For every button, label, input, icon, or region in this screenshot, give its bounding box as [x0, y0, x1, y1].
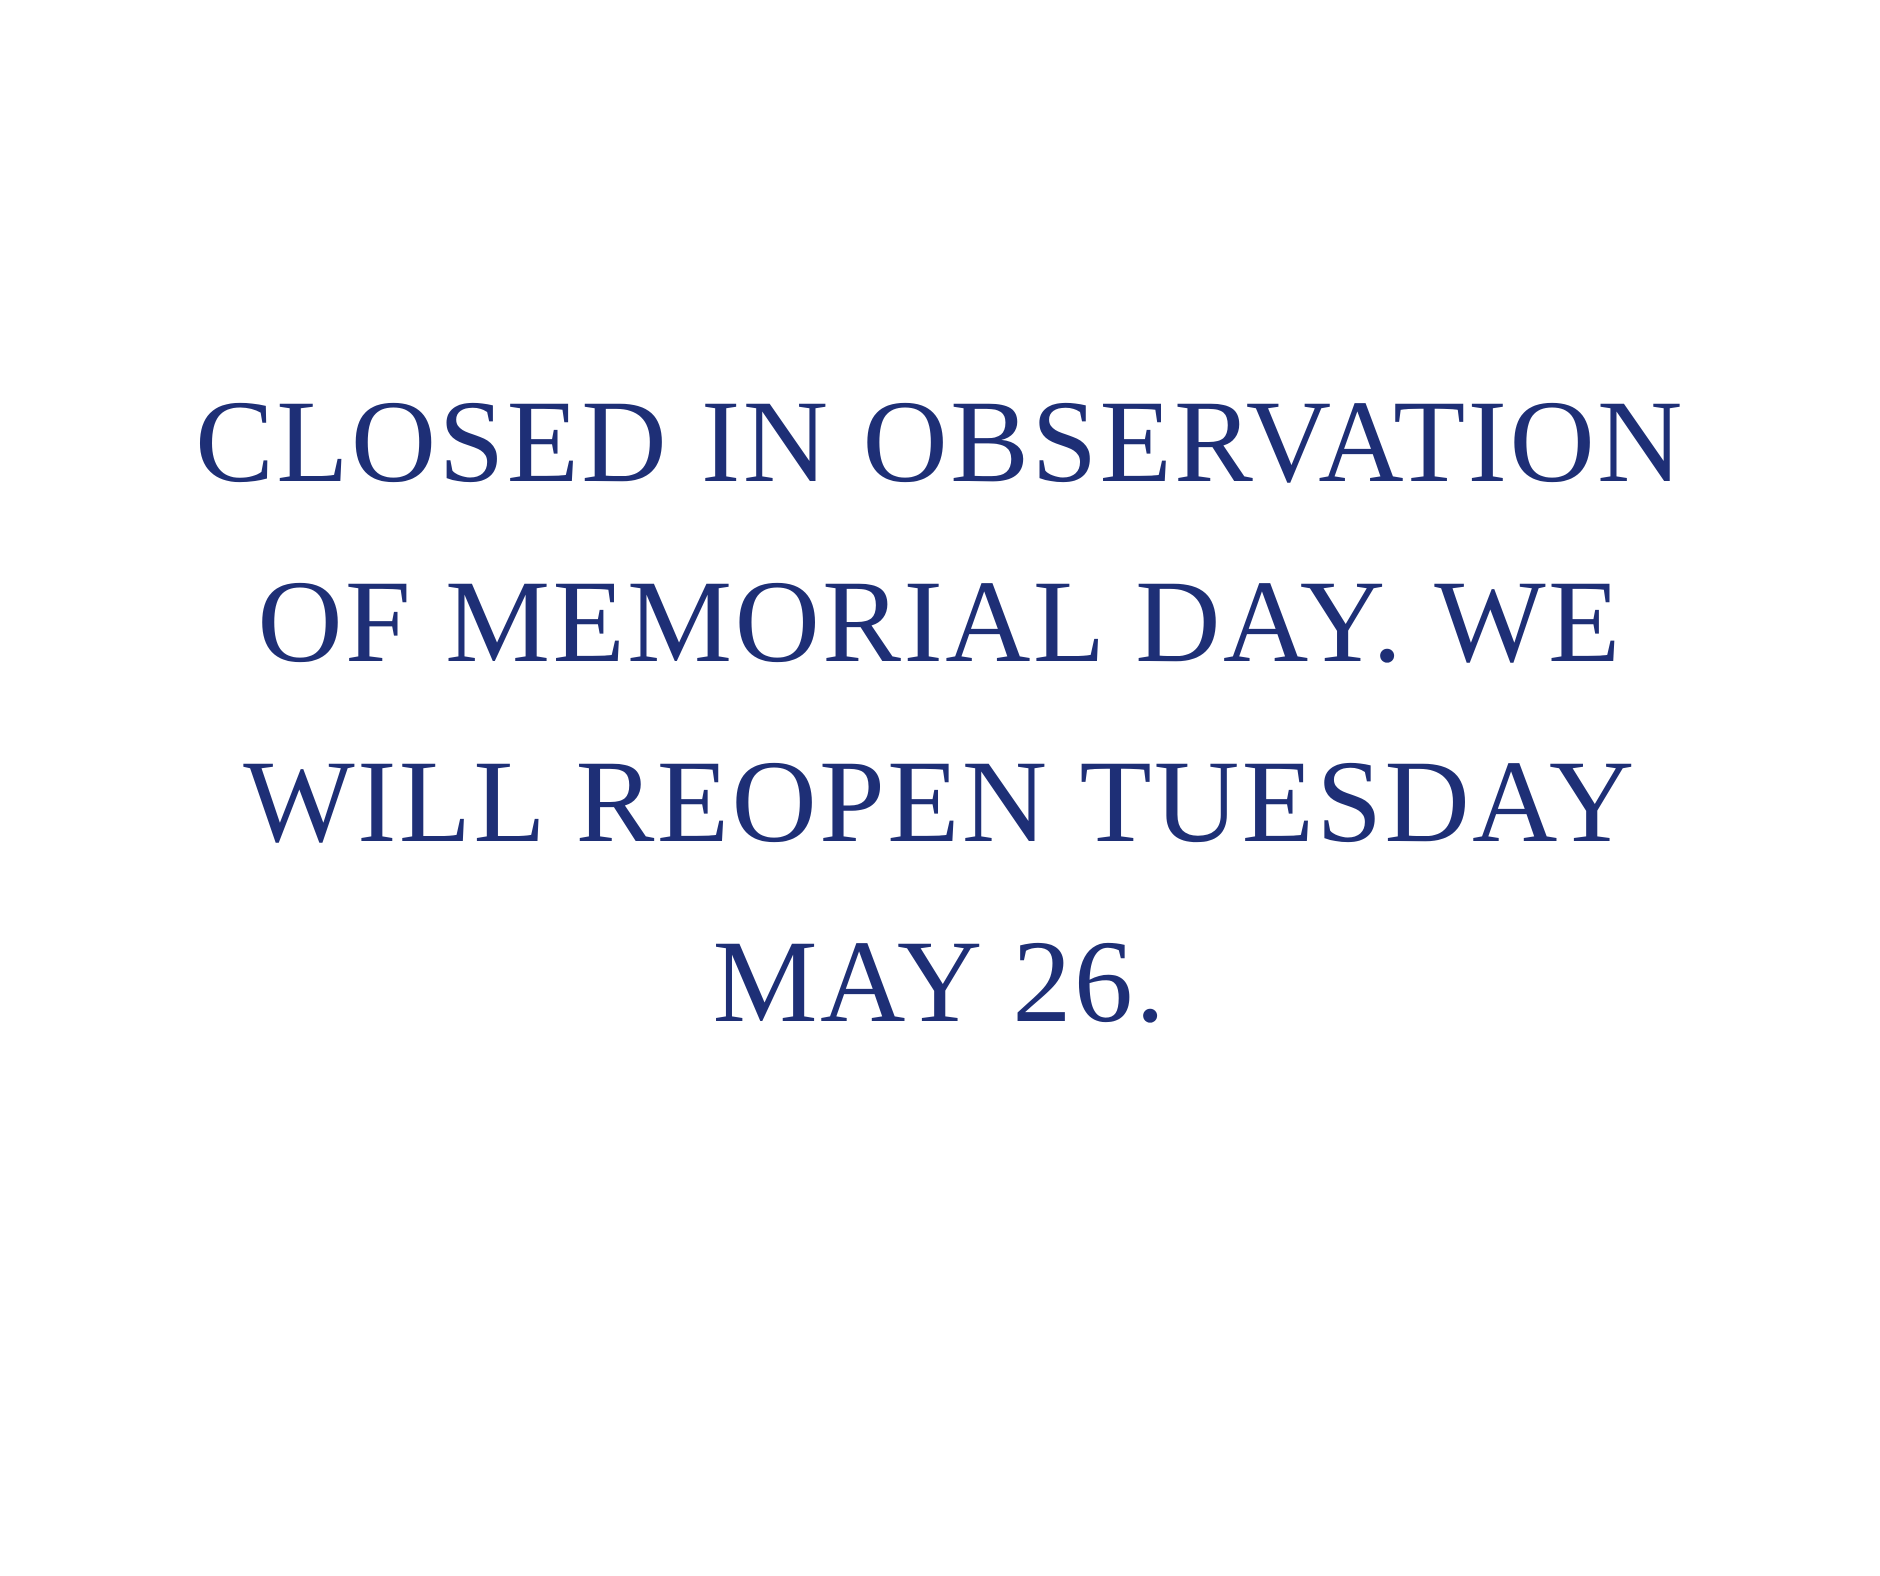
notice-line-1: CLOSED IN OBSERVATION [90, 352, 1790, 532]
notice-line-3: WILL REOPEN TUESDAY [90, 712, 1790, 892]
notice-line-4: MAY 26. [90, 892, 1790, 1072]
notice-page: CLOSED IN OBSERVATION OF MEMORIAL DAY. W… [0, 0, 1880, 1576]
notice-line-2: OF MEMORIAL DAY. WE [90, 532, 1790, 712]
closure-notice-message: CLOSED IN OBSERVATION OF MEMORIAL DAY. W… [90, 352, 1790, 1072]
